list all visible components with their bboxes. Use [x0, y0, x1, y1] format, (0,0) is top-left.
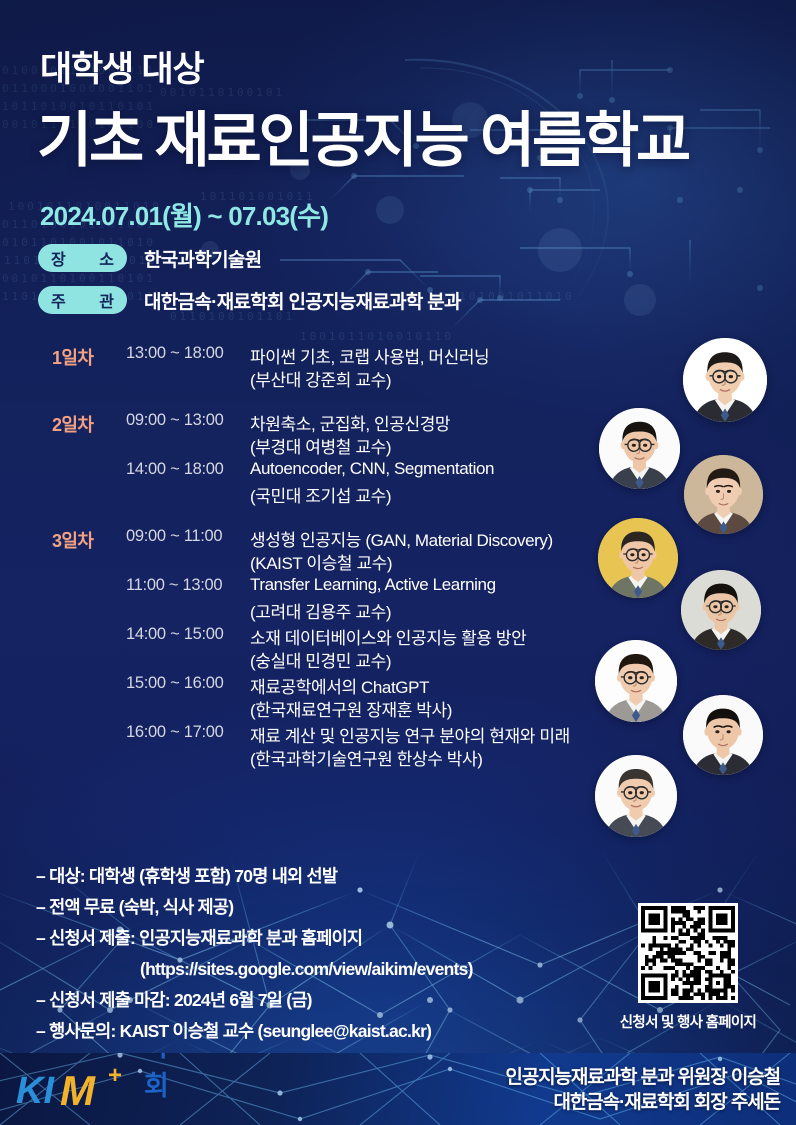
qr-code-icon[interactable]: [638, 903, 738, 1003]
session-time: 14:00 ~ 18:00: [126, 460, 224, 479]
day-label-3: 3일차: [52, 527, 93, 553]
note-item: – 행사문의: KAIST 이승철 교수 (seunglee@kaist.ac.…: [36, 1016, 596, 1047]
footer-signature: 인공지능재료과학 분과 위원장 이승철 대한금속·재료학회 회장 주세돈: [505, 1065, 780, 1115]
poster-kicker: 대학생 대상: [40, 41, 204, 92]
poster-footer: KI M + 대한금속·재료학회 인공지능재료과학 분과 위원장 이승철 대한금…: [0, 1053, 796, 1125]
session-speaker: (한국재료연구원 장재훈 박사): [250, 696, 452, 721]
session-speaker: (국민대 조기섭 교수): [250, 482, 391, 507]
portrait-face: [683, 338, 767, 422]
session-speaker: (부산대 강준희 교수): [250, 366, 391, 391]
portrait-lee-seungchul: [598, 518, 678, 598]
notes-list: – 대상: 대학생 (휴학생 포함) 70명 내외 선발– 전액 무료 (숙박,…: [36, 861, 596, 1047]
venue-badge-char-2: 소: [99, 246, 114, 270]
portrait-kang-junhee: [683, 338, 767, 422]
event-dates: 2024.07.01(월) ~ 07.03(수): [40, 196, 328, 233]
session-speaker: (부경대 여병철 교수): [250, 433, 391, 458]
portrait-face: [684, 455, 763, 534]
session-time: 15:00 ~ 16:00: [126, 674, 224, 693]
svg-text:KI: KI: [16, 1070, 55, 1112]
organizer-badge: 주 관: [38, 286, 127, 314]
portrait-face: [683, 695, 763, 775]
portrait-face: [681, 570, 761, 650]
session-time: 09:00 ~ 13:00: [126, 411, 224, 430]
svg-text:1001011010010110: 1001011010010110: [300, 330, 454, 343]
session-speaker: (KAIST 이승철 교수): [250, 549, 392, 574]
session-speaker: (한국과학기술연구원 한상수 박사): [250, 745, 483, 770]
portrait-min-gyeongmin: [595, 640, 677, 722]
organizer-value: 대한금속·재료학회 인공지능재료과학 분과: [144, 287, 461, 314]
note-item: – 대상: 대학생 (휴학생 포함) 70명 내외 선발: [36, 861, 596, 892]
svg-text:M: M: [60, 1067, 96, 1113]
note-item: – 신청서 제출: 인공지능재료과학 분과 홈페이지: [36, 923, 596, 954]
day-label-1: 1일차: [52, 344, 93, 370]
portrait-kim-yongju: [681, 570, 761, 650]
portrait-han-sangsoo: [595, 755, 677, 837]
session-title: 생성형 인공지능 (GAN, Material Discovery): [250, 526, 553, 551]
session-speaker: (숭실대 민경민 교수): [250, 647, 391, 672]
portrait-cho-giseop: [684, 455, 763, 534]
portrait-face: [599, 408, 680, 489]
session-time: 09:00 ~ 11:00: [126, 527, 222, 546]
footer-signature-line-2: 대한금속·재료학회 회장 주세돈: [505, 1090, 780, 1115]
portrait-face: [598, 518, 678, 598]
organizer-badge-char-2: 관: [99, 288, 114, 312]
info-row-organizer: 주 관 대한금속·재료학회 인공지능재료과학 분과: [38, 286, 461, 314]
qr-caption: 신청서 및 행사 홈페이지: [608, 1011, 768, 1032]
kim-logo-svg: KI M +: [16, 1065, 136, 1113]
qr-block: 신청서 및 행사 홈페이지: [608, 903, 768, 1032]
session-time: 13:00 ~ 18:00: [126, 344, 224, 363]
organizer-badge-char-1: 주: [51, 288, 66, 312]
session-time: 14:00 ~ 15:00: [126, 625, 224, 644]
portrait-jang-jaehun: [683, 695, 763, 775]
session-time: 11:00 ~ 13:00: [126, 576, 222, 595]
footer-signature-line-1: 인공지능재료과학 분과 위원장 이승철: [505, 1065, 780, 1090]
svg-text:+: +: [108, 1065, 122, 1089]
session-title: 차원축소, 군집화, 인공신경망: [250, 410, 450, 435]
session-speaker: (고려대 김용주 교수): [250, 598, 391, 623]
portrait-face: [595, 755, 677, 837]
day-label-2: 2일차: [52, 411, 93, 437]
portrait-face: [595, 640, 677, 722]
qr-code-modules: [641, 906, 735, 1000]
kim-logo-mark: KI M +: [16, 1065, 136, 1113]
session-title: 파이썬 기초, 코랩 사용법, 머신러닝: [250, 343, 489, 368]
poster-title: 기초 재료인공지능 여름학교: [37, 92, 688, 179]
note-item: – 신청서 제출 마감: 2024년 6월 7일 (금): [36, 985, 596, 1016]
venue-badge: 장 소: [38, 244, 127, 272]
session-title: 재료 계산 및 인공지능 연구 분야의 현재와 미래: [250, 722, 570, 747]
session-title: 재료공학에서의 ChatGPT: [250, 673, 429, 698]
note-item: – 전액 무료 (숙박, 식사 제공): [36, 892, 596, 923]
note-item: (https://sites.google.com/view/aikim/eve…: [36, 954, 596, 985]
portrait-yeo-byungchul: [599, 408, 680, 489]
poster-root: 0100101101001011 0110001000001101 101101…: [0, 0, 796, 1125]
session-title: Autoencoder, CNN, Segmentation: [250, 459, 494, 479]
session-title: Transfer Learning, Active Learning: [250, 575, 496, 595]
venue-value: 한국과학기술원: [144, 245, 261, 272]
kim-logo-text: 대한금속·재료학회: [144, 1053, 167, 1103]
session-title: 소재 데이터베이스와 인공지능 활용 방안: [250, 624, 526, 649]
kim-logo: KI M + 대한금속·재료학회: [16, 1065, 136, 1113]
venue-badge-char-1: 장: [51, 246, 66, 270]
info-row-venue: 장 소 한국과학기술원: [38, 244, 261, 272]
session-time: 16:00 ~ 17:00: [126, 723, 224, 742]
svg-text:0010110100110101: 0010110100110101: [2, 272, 156, 285]
